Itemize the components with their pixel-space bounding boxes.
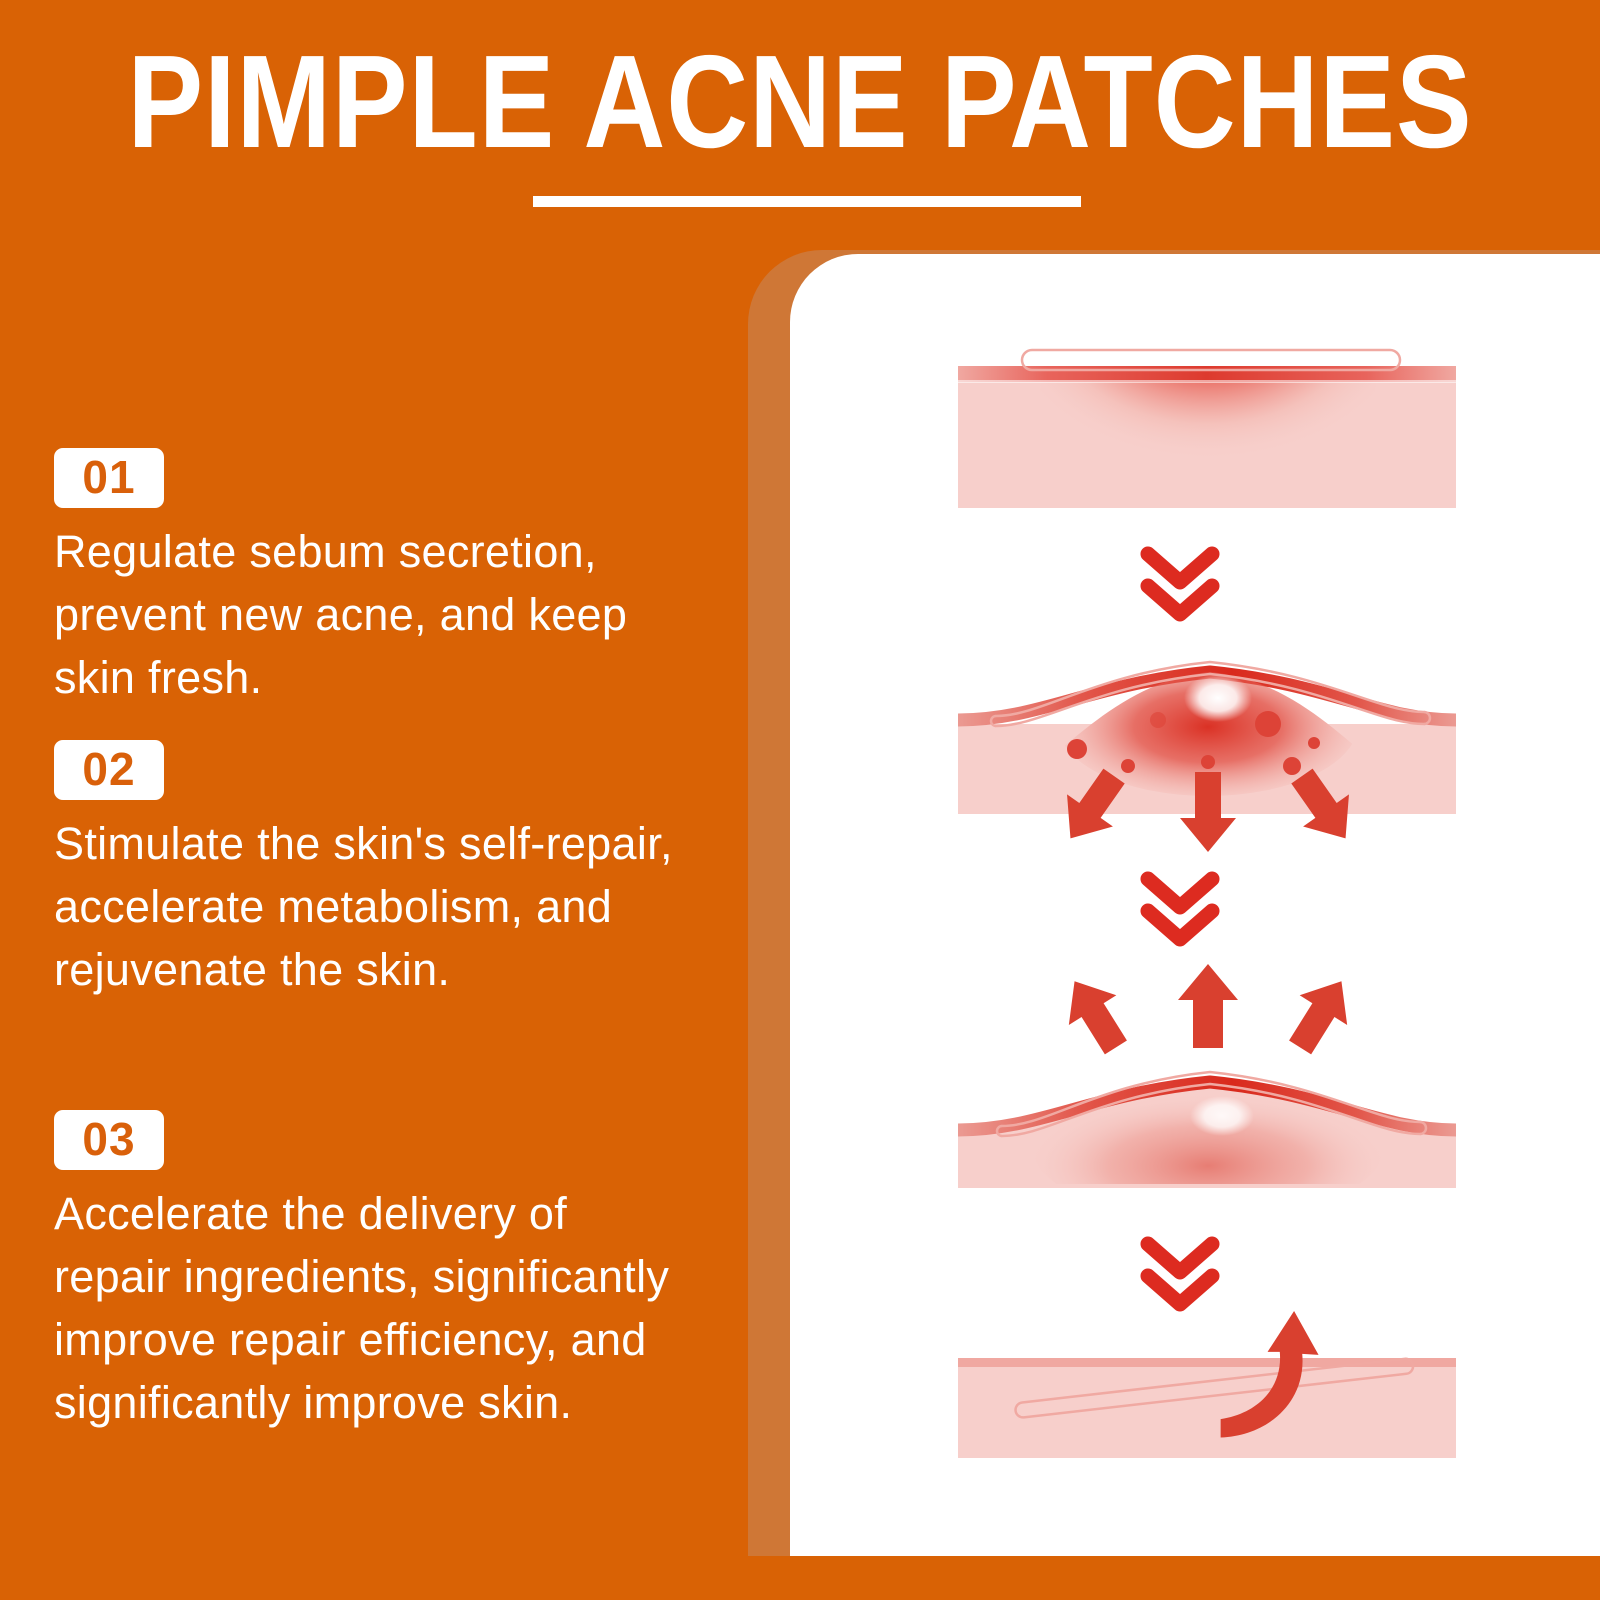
stage-4-patch-peeled-off-healed-skin [958, 1311, 1456, 1458]
stage-3-impurities-drawn-out [958, 964, 1456, 1219]
skin-body-healed [958, 1366, 1456, 1458]
double-chevron-down-divider [1148, 554, 1212, 614]
bacteria-dot [1150, 712, 1166, 728]
pus-highlight [1190, 1096, 1254, 1136]
bacteria-dot [1201, 755, 1215, 769]
benefits-list: 01 Regulate sebum secretion, prevent new… [0, 248, 740, 1600]
infographic-page: PIMPLE ACNE PATCHES 01 Regulate sebum se… [0, 0, 1600, 1600]
illustration-panel [790, 254, 1600, 1556]
pus-highlight [1184, 674, 1252, 722]
item-description: Regulate sebum secretion, prevent new ac… [54, 520, 694, 709]
stage-1-patch-applied-on-flat-skin [958, 274, 1456, 514]
item-number-badge: 03 [54, 1110, 164, 1170]
title-underline [533, 196, 1081, 207]
bacteria-dot [1308, 737, 1320, 749]
up-arrow-center [1178, 964, 1238, 1048]
stage-2-patch-absorbing-into-pimple [958, 652, 1456, 854]
bacteria-dot [1283, 757, 1301, 775]
up-arrow-right [1276, 966, 1365, 1062]
skin-surface-line [958, 366, 1456, 382]
double-chevron-down-divider [1148, 879, 1212, 939]
bottom-band [0, 1556, 1600, 1600]
item-number-badge: 01 [54, 448, 164, 508]
item-description: Stimulate the skin's self-repair, accele… [54, 812, 694, 1001]
item-number-badge: 02 [54, 740, 164, 800]
page-title: PIMPLE ACNE PATCHES [112, 36, 1488, 168]
bacteria-dot [1255, 711, 1281, 737]
header: PIMPLE ACNE PATCHES [0, 0, 1600, 248]
inflammation-glow [1040, 274, 1376, 514]
up-arrow-left [1051, 966, 1140, 1062]
bacteria-dot [1067, 739, 1087, 759]
list-item: 03 Accelerate the delivery of repair ing… [54, 1110, 694, 1434]
acne-patch-mechanism-diagram [790, 254, 1600, 1556]
bacteria-dot [1121, 759, 1135, 773]
list-item: 01 Regulate sebum secretion, prevent new… [54, 448, 694, 709]
double-chevron-down-divider [1148, 1244, 1212, 1304]
skin-surface-highlight [958, 380, 1456, 383]
list-item: 02 Stimulate the skin's self-repair, acc… [54, 740, 694, 1001]
item-description: Accelerate the delivery of repair ingred… [54, 1182, 694, 1434]
